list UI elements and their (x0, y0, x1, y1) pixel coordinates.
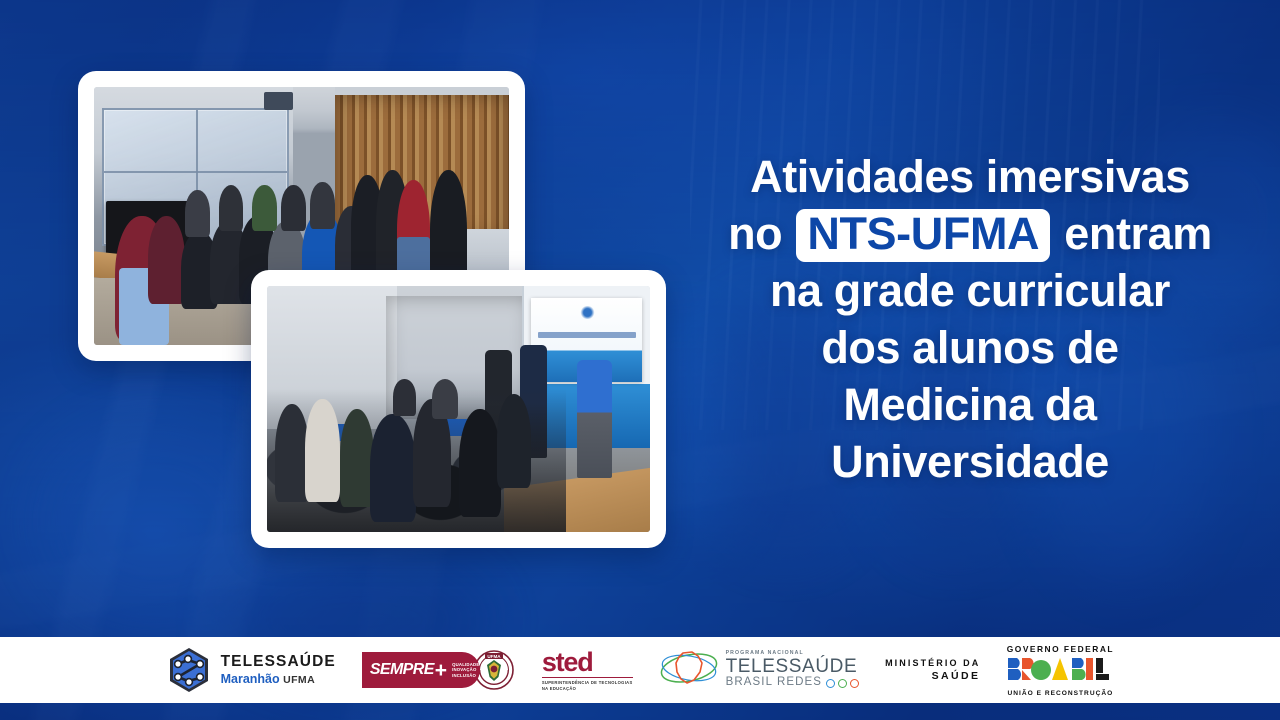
footer-logo-bar: TELESSAÚDE Maranhão UFMA SEMPRE + QUALID… (0, 637, 1280, 703)
brasil-wordmark-icon (1006, 656, 1114, 687)
governo-federal-label: GOVERNO FEDERAL (1007, 644, 1114, 654)
headline-line-2-pre: no (728, 208, 794, 259)
headline-highlight-nts-ufma: NTS-UFMA (796, 209, 1050, 262)
governo-federal-motto: UNIÃO E RECONSTRUÇÃO (1008, 690, 1114, 697)
tbr-dots-icon (826, 679, 859, 688)
logo-telessaude-maranhao: TELESSAÚDE Maranhão UFMA (166, 646, 336, 694)
photo-card-lecture (251, 270, 666, 548)
logo-governo-federal: GOVERNO FEDERAL UNIÃO E RECONSTRUÇÃO (1006, 644, 1114, 697)
headline-line-4: dos alunos de (690, 319, 1250, 376)
tbr-sub: BRASIL REDES (726, 677, 823, 689)
sted-sub-2: NA EDUCAÇÃO (542, 686, 576, 691)
headline-line-2: no NTS-UFMA entram (690, 205, 1250, 262)
headline-line-5: Medicina da (690, 376, 1250, 433)
sempre-sub-2: INOVAÇÃO (452, 667, 479, 672)
telessaude-subtitle: Maranhão UFMA (221, 673, 336, 686)
logo-telessaude-brasil-redes: PROGRAMA NACIONAL TELESSAÚDE BRASIL REDE… (659, 646, 860, 695)
ministerio-line-1: MINISTÉRIO DA (885, 658, 980, 668)
headline: Atividades imersivas no NTS-UFMA entram … (690, 148, 1250, 490)
sempre-plus-icon: + (435, 660, 447, 681)
telessaude-title: TELESSAÚDE (221, 654, 336, 670)
sted-wordmark: sted (542, 649, 593, 675)
telessaude-ufma-word: UFMA (283, 674, 315, 686)
sempre-sublines: QUALIDADE INOVAÇÃO INCLUSÃO (452, 662, 479, 678)
sempre-word: SEMPRE (370, 661, 434, 679)
svg-text:UFMA: UFMA (487, 654, 501, 659)
telessaude-maranhao-word: Maranhão (221, 672, 280, 686)
brazil-map-icon (659, 646, 719, 695)
ufma-crest-icon: UFMA (474, 650, 514, 690)
logo-ministerio-da-saude: MINISTÉRIO DA SAÚDE (885, 658, 980, 682)
tbr-sub-row: BRASIL REDES (726, 677, 860, 689)
logo-sempre-mais: SEMPRE + QUALIDADE INOVAÇÃO INCLUSÃO UFM… (362, 650, 514, 690)
telessaude-brasil-text: PROGRAMA NACIONAL TELESSAÚDE BRASIL REDE… (726, 651, 860, 689)
sempre-pill: SEMPRE + QUALIDADE INOVAÇÃO INCLUSÃO (362, 652, 480, 688)
headline-line-2-post: entram (1052, 208, 1212, 259)
sted-rule (542, 677, 633, 678)
headline-line-1: Atividades imersivas (690, 148, 1250, 205)
lecture-photo-image (267, 286, 650, 532)
logo-sted: sted SUPERINTENDÊNCIA DE TECNOLOGIAS NA … (542, 649, 633, 690)
hexagon-network-icon (166, 646, 212, 694)
headline-line-3: na grade curricular (690, 262, 1250, 319)
ministerio-line-2: SAÚDE (932, 670, 981, 682)
tbr-main: TELESSAÚDE (726, 657, 860, 676)
logo-telessaude-text: TELESSAÚDE Maranhão UFMA (221, 654, 336, 685)
headline-line-6: Universidade (690, 433, 1250, 490)
banner-stage: Atividades imersivas no NTS-UFMA entram … (0, 0, 1280, 720)
sempre-sub-3: INCLUSÃO (452, 673, 479, 678)
